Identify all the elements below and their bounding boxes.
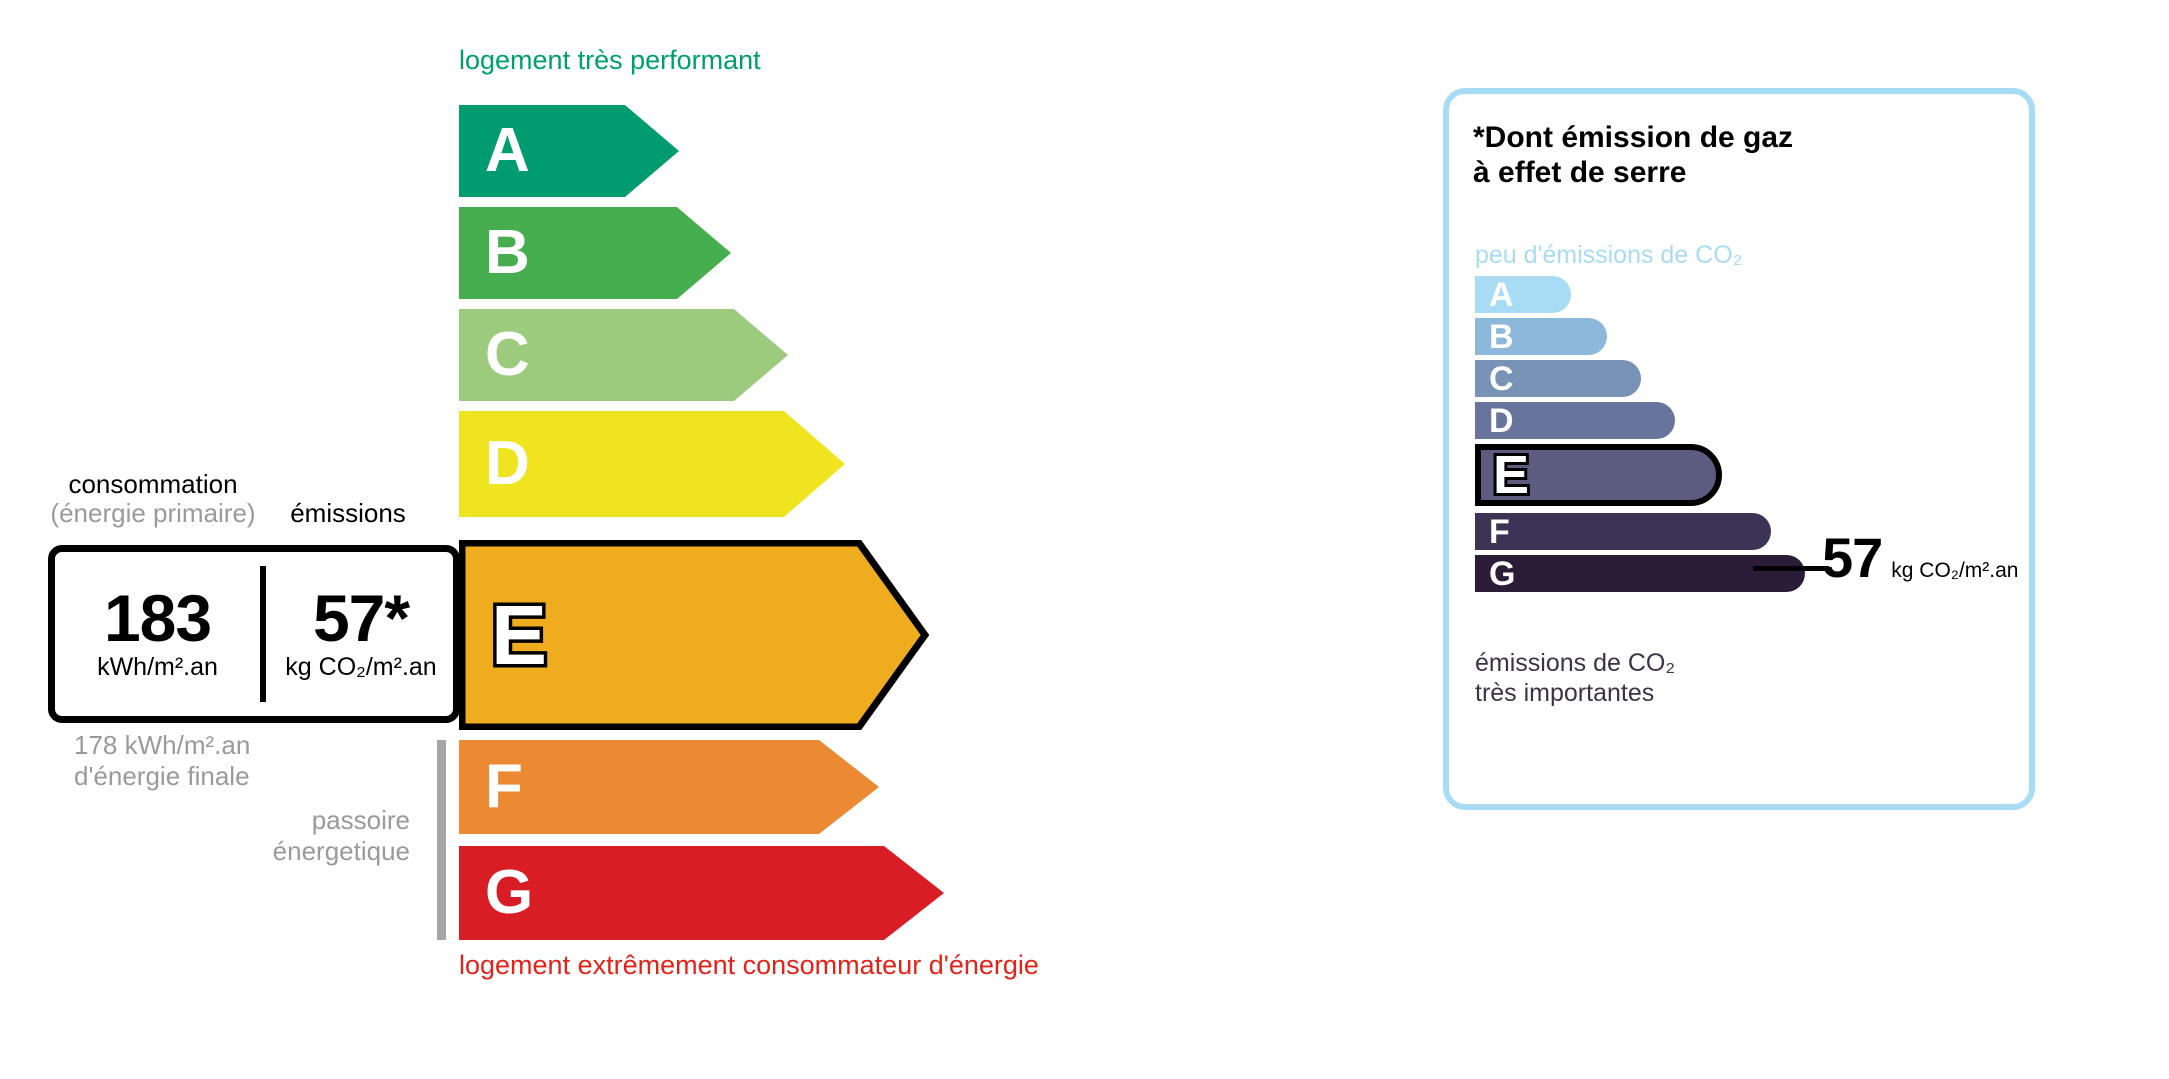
co2-bar-shape-g (1475, 555, 1805, 592)
energy-arrow-shape-a: A (459, 105, 679, 197)
co2-title-line2: à effet de serre (1473, 155, 1793, 190)
co2-callout-leader-line (1753, 566, 1829, 571)
co2-emissions-panel: *Dont émission de gaz à effet de serre p… (1443, 88, 2035, 810)
energy-grade-letter-d: D (485, 433, 530, 495)
co2-bar-f: F (1475, 513, 1771, 550)
co2-caption-bottom-line1: émissions de CO₂ (1475, 648, 1675, 678)
scale-caption-bottom: logement extrêmement consommateur d'éner… (459, 950, 1039, 981)
co2-callout: 57 kg CO₂/m².an (1822, 530, 2018, 586)
co2-grade-letter-a: A (1489, 278, 1514, 312)
energy-grade-letter-e: E (491, 593, 547, 677)
label-consommation: consommation (énergie primaire) (48, 470, 258, 528)
emission-unit: kg CO₂/m².an (285, 653, 436, 682)
energy-arrow-shape-g: G (459, 846, 944, 940)
consumption-value-cell: 183 kWh/m².an (55, 552, 260, 716)
emission-value: 57* (313, 586, 409, 651)
label-emissions: émissions (258, 498, 438, 529)
co2-grade-letter-d: D (1489, 404, 1514, 438)
co2-grade-letter-b: B (1489, 320, 1514, 354)
co2-bar-shape-f (1475, 513, 1771, 550)
dpe-energy-label: logement très performant A B (0, 0, 2169, 1079)
energy-grade-letter-b: B (485, 222, 530, 284)
passoire-line1: passoire (220, 805, 410, 836)
consumption-emission-value-box: 183 kWh/m².an 57* kg CO₂/m².an (48, 545, 460, 723)
emission-value-cell: 57* kg CO₂/m².an (266, 552, 456, 716)
label-consommation-main: consommation (68, 469, 237, 499)
co2-bar-e-current: E (1475, 444, 1722, 506)
co2-bar-a: A (1475, 276, 1571, 313)
passoire-energetique-marker (437, 740, 446, 940)
co2-grade-letter-g: G (1489, 557, 1515, 591)
co2-caption-top: peu d'émissions de CO₂ (1475, 241, 1742, 270)
co2-bar-g: G (1475, 555, 1805, 592)
co2-callout-unit: kg CO₂/m².an (1891, 559, 2018, 583)
energy-bar-a: A (459, 105, 679, 197)
co2-title-line1: *Dont émission de gaz (1473, 120, 1793, 155)
co2-callout-value: 57 (1822, 530, 1882, 586)
energy-bar-g: G (459, 846, 944, 940)
co2-bar-d: D (1475, 402, 1675, 439)
energy-arrow-shape-b: B (459, 207, 731, 299)
energy-grade-letter-a: A (485, 120, 530, 182)
co2-bar-c: C (1475, 360, 1641, 397)
energy-bar-d: D (459, 411, 845, 517)
energy-performance-scale: logement très performant A B (0, 0, 1400, 1079)
energy-arrow-shape-f: F (459, 740, 879, 834)
final-energy-caption: d'énergie finale (74, 761, 250, 792)
co2-bar-b: B (1475, 318, 1607, 355)
energy-grade-letter-c: C (485, 324, 530, 386)
co2-grade-letter-e: E (1493, 448, 1529, 502)
consumption-unit: kWh/m².an (97, 653, 218, 682)
label-passoire-energetique: passoire énergetique (220, 805, 410, 867)
consumption-value: 183 (104, 586, 211, 651)
energy-bar-c: C (459, 309, 788, 401)
energy-bar-e-current: E (459, 540, 929, 730)
scale-caption-top: logement très performant (459, 45, 761, 76)
energy-grade-letter-f: F (485, 756, 523, 818)
energy-arrow-shape-c: C (459, 309, 788, 401)
co2-caption-bottom: émissions de CO₂ très importantes (1475, 648, 1675, 708)
co2-grade-letter-c: C (1489, 362, 1514, 396)
co2-panel-title: *Dont émission de gaz à effet de serre (1473, 120, 1793, 191)
label-final-energy: 178 kWh/m².an d'énergie finale (74, 730, 250, 792)
co2-caption-bottom-line2: très importantes (1475, 678, 1675, 708)
energy-bar-b: B (459, 207, 731, 299)
final-energy-value: 178 kWh/m².an (74, 730, 250, 761)
co2-grade-letter-f: F (1489, 515, 1510, 549)
label-consommation-sub: (énergie primaire) (48, 499, 258, 528)
energy-arrow-shape-e: E (459, 540, 929, 730)
passoire-line2: énergetique (220, 836, 410, 867)
energy-arrow-shape-d: D (459, 411, 845, 517)
energy-bar-f: F (459, 740, 879, 834)
energy-grade-letter-g: G (485, 862, 533, 924)
